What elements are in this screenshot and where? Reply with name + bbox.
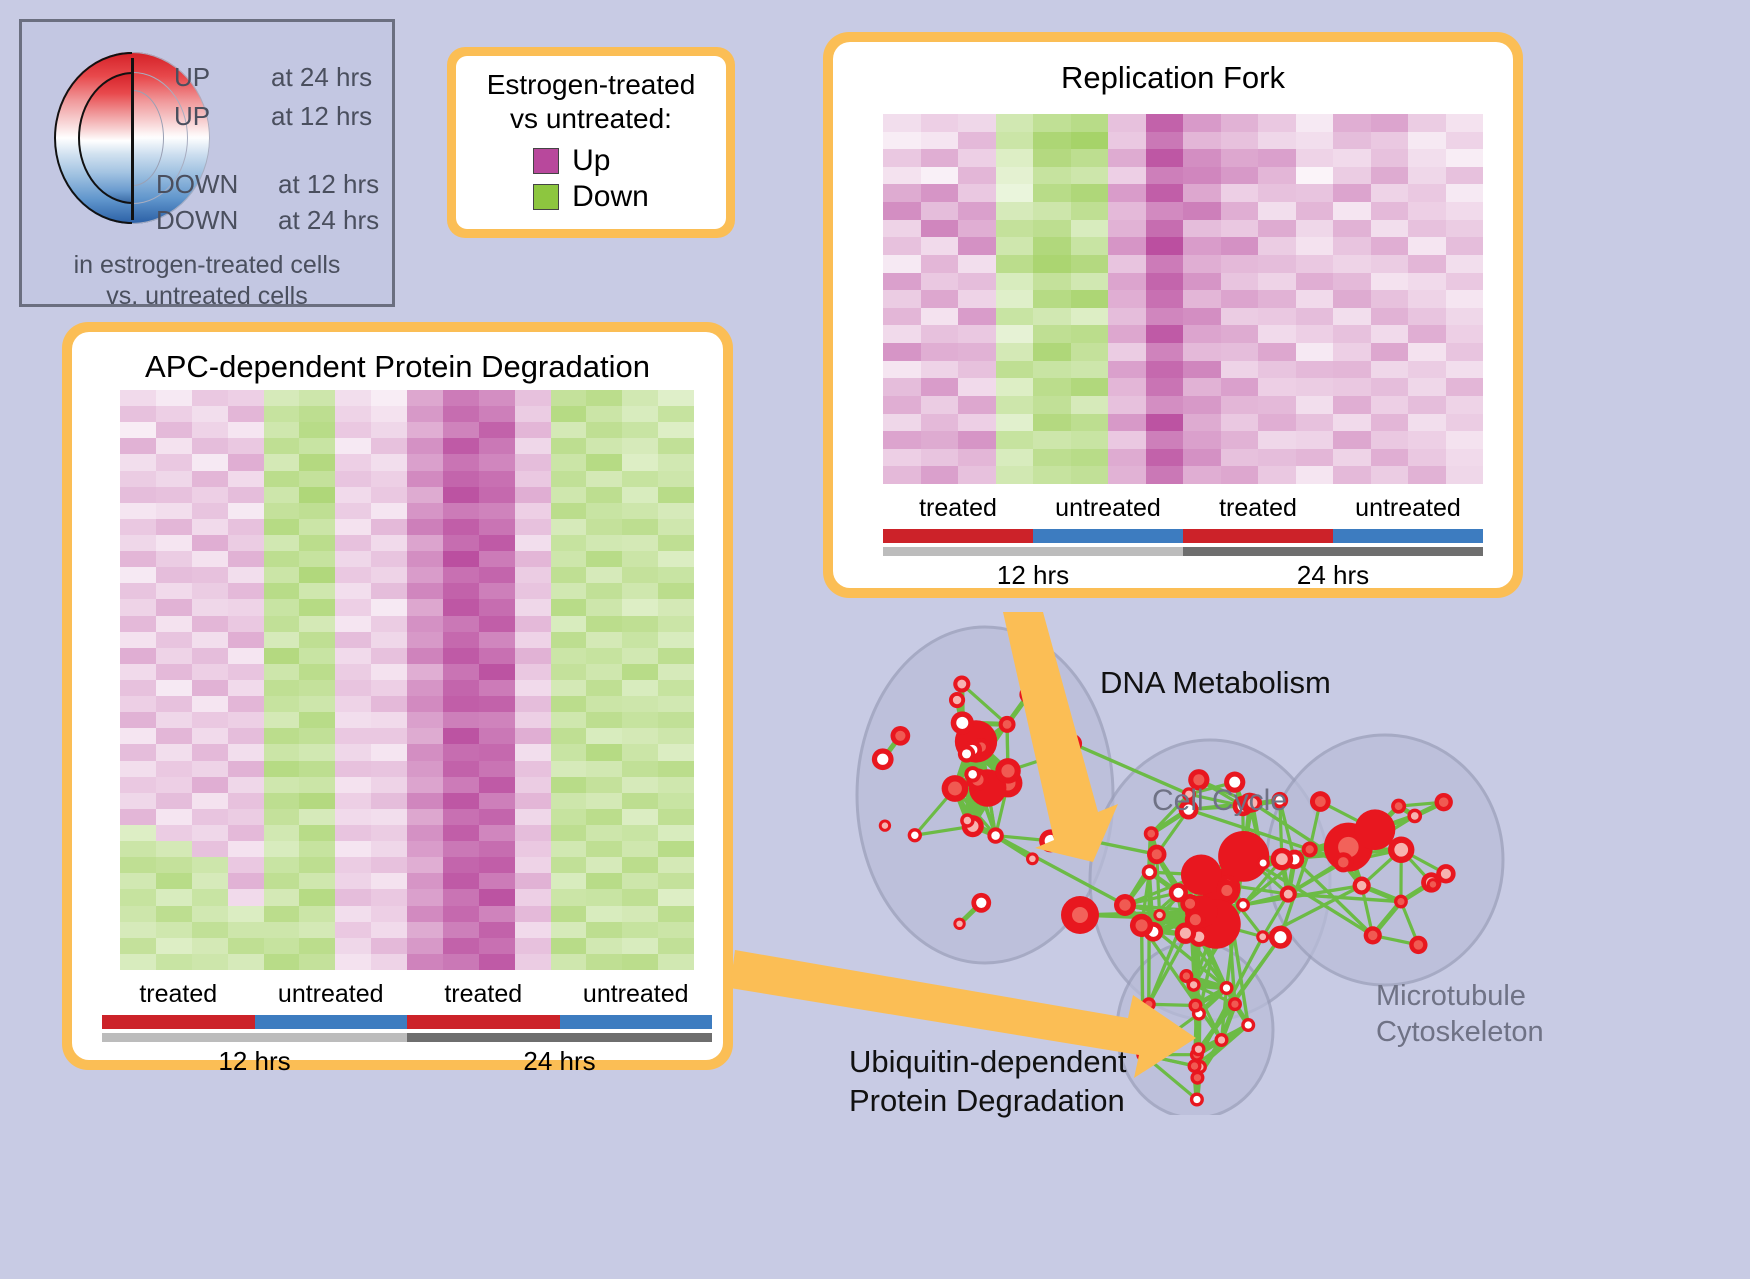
heatmap-cell: [1446, 167, 1484, 185]
heatmap-cell: [1221, 308, 1259, 326]
heatmap-cell: [1071, 220, 1109, 238]
heatmap-cell: [958, 220, 996, 238]
heatmap-cell: [335, 954, 371, 970]
network-node[interactable]: [1147, 845, 1166, 864]
heatmap-cell: [407, 777, 443, 793]
heatmap-cell: [1446, 202, 1484, 220]
heatmap-cell: [443, 938, 479, 954]
heatmap-cell: [622, 664, 658, 680]
heatmap-cell: [371, 922, 407, 938]
heatmap-cell: [228, 809, 264, 825]
heatmap-cell: [515, 680, 551, 696]
network-node[interactable]: [942, 775, 969, 802]
heatmap-cell: [958, 361, 996, 379]
heatmap-cell: [622, 406, 658, 422]
network-node[interactable]: [1256, 856, 1269, 869]
heatmap-cell: [996, 308, 1034, 326]
heatmap-cell: [479, 422, 515, 438]
network-node[interactable]: [1185, 909, 1206, 930]
heatmap-cell: [1183, 414, 1221, 432]
heatmap-cell: [443, 696, 479, 712]
network-node[interactable]: [1214, 1033, 1228, 1047]
node-core: [1185, 899, 1195, 909]
heatmap-cell: [622, 567, 658, 583]
network-node[interactable]: [960, 813, 974, 827]
heatmap-cell: [883, 273, 921, 291]
heatmap-cell: [622, 599, 658, 615]
heatmap-cell: [228, 857, 264, 873]
node-core: [964, 817, 972, 825]
network-node[interactable]: [1026, 852, 1039, 865]
network-node[interactable]: [987, 827, 1003, 843]
heatmap-cell: [156, 825, 192, 841]
network-node[interactable]: [1269, 926, 1292, 949]
heatmap-cell: [335, 744, 371, 760]
heatmap-cell: [1071, 308, 1109, 326]
heatmap-cell: [443, 680, 479, 696]
treatment-bar-segment-3: [560, 1015, 713, 1029]
ring-label-down-12: DOWN: [156, 169, 238, 200]
heatmap-cell: [407, 922, 443, 938]
heatmap-cell: [407, 873, 443, 889]
heatmap-cell: [264, 616, 300, 632]
heatmap-cell: [1446, 149, 1484, 167]
heatmap-cell: [156, 841, 192, 857]
heatmap-cell: [586, 906, 622, 922]
heatmap-cell: [622, 454, 658, 470]
heatmap-cell: [586, 471, 622, 487]
heatmap-cell: [264, 454, 300, 470]
heatmap-cell: [1146, 220, 1184, 238]
heatmap-cell: [1408, 308, 1446, 326]
heatmap-cell: [120, 777, 156, 793]
heatmap-cell: [996, 431, 1034, 449]
network-node[interactable]: [1061, 896, 1099, 934]
heatmap-cell: [586, 503, 622, 519]
node-core: [1029, 855, 1036, 862]
network-node[interactable]: [1355, 809, 1396, 850]
time-bar-segment-0: [102, 1033, 407, 1042]
network-node[interactable]: [1228, 997, 1242, 1011]
heatmap-cell: [551, 889, 587, 905]
heatmap-cell: [658, 632, 694, 648]
node-core: [1221, 885, 1232, 896]
heatmap-cell: [958, 202, 996, 220]
heatmap-cell: [1371, 132, 1409, 150]
network-node[interactable]: [1310, 791, 1331, 812]
heatmap-cell: [1221, 255, 1259, 273]
heatmap-cell: [1333, 237, 1371, 255]
heatmap-cell: [479, 438, 515, 454]
node-core: [1315, 796, 1326, 807]
down-color-swatch: [533, 184, 559, 210]
heatmap-cell: [515, 954, 551, 970]
heatmap-cell: [622, 777, 658, 793]
heatmap-cell: [371, 728, 407, 744]
heatmap-cell: [407, 809, 443, 825]
heatmap-cell: [1446, 220, 1484, 238]
heatmap-cell: [551, 616, 587, 632]
network-node[interactable]: [995, 758, 1021, 784]
network-node[interactable]: [1388, 837, 1414, 863]
heatmap-cell: [1183, 431, 1221, 449]
heatmap-cell: [958, 149, 996, 167]
heatmap-cell: [479, 519, 515, 535]
network-node[interactable]: [1427, 878, 1439, 890]
heatmap-cell: [658, 551, 694, 567]
network-node[interactable]: [1153, 909, 1165, 921]
group-label-2: treated: [1183, 494, 1333, 523]
heatmap-cell: [1296, 449, 1334, 467]
network-node[interactable]: [1190, 1092, 1204, 1106]
heatmap-cell: [335, 471, 371, 487]
heatmap-cell: [228, 551, 264, 567]
network-node[interactable]: [971, 893, 991, 913]
network-node[interactable]: [1333, 852, 1353, 872]
heatmap-cell: [586, 922, 622, 938]
heatmap-cell: [407, 938, 443, 954]
heatmap-cell: [1446, 466, 1484, 484]
network-node[interactable]: [958, 745, 975, 762]
heatmap-cell: [407, 954, 443, 970]
node-core: [1357, 881, 1366, 890]
heatmap-cell: [443, 406, 479, 422]
heatmap-cell: [658, 680, 694, 696]
network-node[interactable]: [1353, 877, 1371, 895]
heatmap-cell: [1146, 378, 1184, 396]
heatmap-cell: [120, 793, 156, 809]
heatmap-cell: [120, 599, 156, 615]
heatmap-cell: [479, 583, 515, 599]
network-node[interactable]: [1026, 687, 1044, 705]
heatmap-cell: [156, 922, 192, 938]
heatmap-cell: [883, 466, 921, 484]
network-node[interactable]: [1218, 831, 1269, 882]
network-node[interactable]: [1142, 997, 1156, 1011]
heatmap-cell: [1033, 308, 1071, 326]
heatmap-cell: [335, 648, 371, 664]
heatmap-cell: [407, 519, 443, 535]
heatmap-cell: [586, 696, 622, 712]
heatmap-cell: [443, 583, 479, 599]
heatmap-cell: [996, 237, 1034, 255]
node-core: [956, 921, 962, 927]
network-node[interactable]: [1241, 1018, 1255, 1032]
heatmap-cell: [622, 712, 658, 728]
heatmap-cell: [658, 889, 694, 905]
updown-legend-title-line1: Estrogen-treated: [487, 68, 696, 102]
heatmap-cell: [1221, 202, 1259, 220]
heatmap-cell: [479, 632, 515, 648]
heatmap-cell: [551, 938, 587, 954]
heatmap-cell: [883, 431, 921, 449]
heatmap-cell: [1108, 466, 1146, 484]
heatmap-cell: [299, 889, 335, 905]
network-node[interactable]: [964, 766, 981, 783]
heatmap-cell: [921, 396, 959, 414]
network-node[interactable]: [1190, 1071, 1204, 1085]
network-node[interactable]: [1114, 894, 1136, 916]
heatmap-cell: [622, 793, 658, 809]
heatmap-cell: [371, 761, 407, 777]
network-node[interactable]: [1256, 930, 1269, 943]
heatmap-cell: [658, 825, 694, 841]
heatmap-cell: [479, 761, 515, 777]
heatmap-cell: [299, 616, 335, 632]
cluster-label-dna-metabolism: DNA Metabolism: [1100, 665, 1331, 701]
heatmap-cell: [1258, 414, 1296, 432]
network-node[interactable]: [1364, 926, 1382, 944]
heatmap-cell: [996, 290, 1034, 308]
heatmap-cell: [1446, 132, 1484, 150]
node-core: [1231, 1000, 1238, 1007]
heatmap-cell: [515, 535, 551, 551]
network-node[interactable]: [879, 819, 891, 831]
heatmap-cell: [1371, 184, 1409, 202]
heatmap-cell: [156, 664, 192, 680]
heatmap-cell: [658, 422, 694, 438]
heatmap-cell: [1408, 273, 1446, 291]
heatmap-cell: [192, 809, 228, 825]
heatmap-cell: [120, 728, 156, 744]
network-node[interactable]: [908, 828, 922, 842]
heatmap-cell: [443, 954, 479, 970]
heatmap-cell: [156, 487, 192, 503]
heatmap-cell: [921, 361, 959, 379]
ring-label-up-24: UP: [174, 62, 210, 93]
network-node[interactable]: [872, 748, 894, 770]
heatmap-cell: [1371, 343, 1409, 361]
heatmap-cell: [299, 744, 335, 760]
heatmap-cell: [228, 922, 264, 938]
heatmap-cell: [407, 906, 443, 922]
network-node[interactable]: [953, 918, 965, 930]
updown-color-legend: Estrogen-treated vs untreated: Up Down: [447, 47, 735, 238]
heatmap-cell: [883, 290, 921, 308]
heatmap-cell: [156, 632, 192, 648]
heatmap-cell: [1408, 449, 1446, 467]
heatmap-cell: [1371, 220, 1409, 238]
heatmap-cell: [371, 487, 407, 503]
heatmap-cell: [479, 406, 515, 422]
network-node[interactable]: [1216, 880, 1237, 901]
heatmap-cell: [921, 325, 959, 343]
heatmap-cell: [551, 809, 587, 825]
heatmap-cell: [479, 680, 515, 696]
heatmap-cell: [1408, 414, 1446, 432]
heatmap-cell: [1146, 149, 1184, 167]
heatmap-cell: [551, 438, 587, 454]
heatmap-cell: [120, 406, 156, 422]
node-core: [976, 898, 986, 908]
heatmap-cell: [1296, 167, 1334, 185]
heatmap-cell: [228, 680, 264, 696]
heatmap-cell: [264, 567, 300, 583]
replication-fork-heatmap: [883, 114, 1483, 484]
network-node[interactable]: [949, 692, 965, 708]
heatmap-cell: [1296, 290, 1334, 308]
ring-divider-line: [131, 58, 134, 220]
heatmap-cell: [299, 583, 335, 599]
heatmap-cell: [156, 471, 192, 487]
heatmap-cell: [1108, 396, 1146, 414]
heatmap-cell: [371, 567, 407, 583]
node-core: [877, 754, 888, 765]
heatmap-cell: [586, 938, 622, 954]
network-node[interactable]: [1188, 1059, 1202, 1073]
heatmap-cell: [1333, 220, 1371, 238]
heatmap-cell: [883, 449, 921, 467]
heatmap-cell: [622, 632, 658, 648]
heatmap-cell: [622, 471, 658, 487]
heatmap-cell: [551, 793, 587, 809]
heatmap-cell: [156, 712, 192, 728]
heatmap-cell: [264, 825, 300, 841]
heatmap-cell: [228, 744, 264, 760]
heatmap-cell: [1333, 378, 1371, 396]
network-node[interactable]: [1436, 864, 1455, 883]
heatmap-cell: [192, 632, 228, 648]
heatmap-cell: [1071, 255, 1109, 273]
heatmap-cell: [120, 390, 156, 406]
heatmap-cell: [1258, 396, 1296, 414]
heatmap-cell: [1221, 466, 1259, 484]
network-node[interactable]: [1435, 793, 1453, 811]
heatmap-cell: [1333, 273, 1371, 291]
network-node[interactable]: [1136, 1048, 1150, 1062]
node-core: [911, 832, 918, 839]
network-node[interactable]: [1179, 969, 1193, 983]
heatmap-cell: [515, 551, 551, 567]
heatmap-cell: [996, 255, 1034, 273]
heatmap-cell: [335, 599, 371, 615]
heatmap-cell: [264, 680, 300, 696]
heatmap-cell: [264, 744, 300, 760]
network-node[interactable]: [1144, 826, 1159, 841]
heatmap-cell: [299, 406, 335, 422]
treatment-bar-segment-2: [407, 1015, 560, 1029]
heatmap-cell: [1033, 202, 1071, 220]
heatmap-cell: [264, 857, 300, 873]
heatmap-cell: [479, 938, 515, 954]
network-node[interactable]: [1169, 883, 1188, 902]
heatmap-cell: [1183, 290, 1221, 308]
heatmap-cell: [658, 616, 694, 632]
network-node[interactable]: [1394, 895, 1408, 909]
network-node[interactable]: [1271, 848, 1294, 871]
heatmap-cell: [443, 616, 479, 632]
heatmap-cell: [1258, 255, 1296, 273]
network-node[interactable]: [1063, 734, 1082, 753]
heatmap-cell: [551, 503, 587, 519]
heatmap-cell: [1296, 202, 1334, 220]
heatmap-cell: [264, 809, 300, 825]
heatmap-cell: [1108, 167, 1146, 185]
heatmap-cell: [921, 273, 959, 291]
group-label-0: treated: [883, 494, 1033, 523]
heatmap-cell: [264, 712, 300, 728]
heatmap-cell: [479, 809, 515, 825]
heatmap-cell: [551, 471, 587, 487]
network-node[interactable]: [1236, 898, 1250, 912]
heatmap-cell: [658, 406, 694, 422]
network-node[interactable]: [999, 716, 1016, 733]
heatmap-cell: [371, 616, 407, 632]
heatmap-cell: [515, 519, 551, 535]
heatmap-cell: [335, 761, 371, 777]
heatmap-cell: [1221, 414, 1259, 432]
heatmap-cell: [371, 551, 407, 567]
network-node[interactable]: [1142, 864, 1157, 879]
heatmap-cell: [1183, 114, 1221, 132]
network-node[interactable]: [891, 726, 911, 746]
network-node[interactable]: [1407, 809, 1422, 824]
network-node[interactable]: [1302, 841, 1318, 857]
heatmap-cell: [1033, 184, 1071, 202]
heatmap-cell: [1296, 114, 1334, 132]
heatmap-cell: [335, 680, 371, 696]
heatmap-cell: [1221, 290, 1259, 308]
heatmap-cell: [1446, 255, 1484, 273]
heatmap-cell: [1071, 149, 1109, 167]
heatmap-cell: [371, 744, 407, 760]
heatmap-cell: [407, 583, 443, 599]
heatmap-cell: [228, 567, 264, 583]
network-node[interactable]: [1280, 886, 1297, 903]
heatmap-cell: [479, 648, 515, 664]
heatmap-cell: [120, 648, 156, 664]
heatmap-cell: [120, 664, 156, 680]
heatmap-cell: [120, 632, 156, 648]
heatmap-cell: [958, 449, 996, 467]
heatmap-cell: [1071, 167, 1109, 185]
heatmap-cell: [443, 922, 479, 938]
heatmap-cell: [479, 728, 515, 744]
heatmap-cell: [371, 471, 407, 487]
heatmap-cell: [586, 616, 622, 632]
heatmap-cell: [1333, 361, 1371, 379]
heatmap-cell: [1408, 343, 1446, 361]
apc-treatment-bar: [102, 1015, 712, 1029]
heatmap-cell: [658, 664, 694, 680]
network-node[interactable]: [1053, 828, 1066, 841]
network-node[interactable]: [1188, 998, 1202, 1012]
heatmap-cell: [228, 954, 264, 970]
network-node[interactable]: [1409, 936, 1427, 954]
heatmap-cell: [1221, 167, 1259, 185]
heatmap-cell: [658, 954, 694, 970]
node-core: [1030, 691, 1039, 700]
heatmap-cell: [120, 809, 156, 825]
node-core: [1218, 1036, 1225, 1043]
heatmap-cell: [335, 873, 371, 889]
heatmap-cell: [335, 406, 371, 422]
heatmap-cell: [996, 378, 1034, 396]
network-node[interactable]: [1191, 1042, 1205, 1056]
network-node[interactable]: [1220, 981, 1234, 995]
node-core: [1439, 797, 1449, 807]
network-node[interactable]: [953, 675, 970, 692]
heatmap-cell: [443, 889, 479, 905]
network-node[interactable]: [1391, 799, 1406, 814]
heatmap-cell: [443, 857, 479, 873]
heatmap-cell: [371, 422, 407, 438]
heatmap-cell: [515, 390, 551, 406]
network-node[interactable]: [1130, 914, 1153, 937]
heatmap-cell: [586, 664, 622, 680]
apc-heatmap: [120, 390, 694, 970]
network-node[interactable]: [951, 711, 974, 734]
